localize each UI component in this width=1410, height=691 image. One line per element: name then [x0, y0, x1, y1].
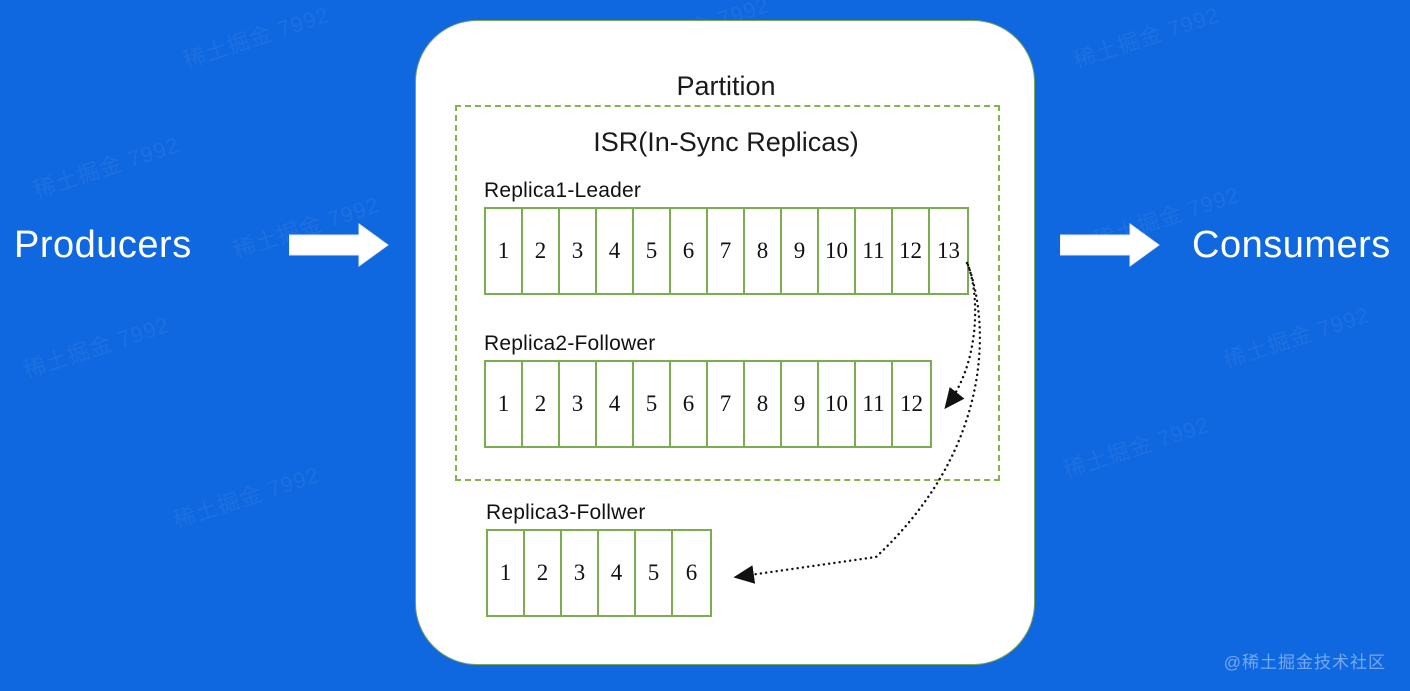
log-cell: 1 [486, 362, 523, 446]
replica-row-follower-3: Replica3-Follwer 1 2 3 4 5 6 [486, 501, 712, 617]
producers-label: Producers [14, 224, 192, 267]
log-cell: 12 [893, 362, 930, 446]
replica-row-follower-2: Replica2-Follower 1 2 3 4 5 6 7 8 9 10 1… [484, 332, 932, 448]
log-cell: 12 [893, 209, 930, 293]
replica2-cells: 1 2 3 4 5 6 7 8 9 10 11 12 [484, 360, 932, 448]
consumers-label: Consumers [1192, 224, 1391, 267]
log-cell: 2 [523, 362, 560, 446]
log-cell: 6 [673, 531, 710, 615]
replica3-cells: 1 2 3 4 5 6 [486, 529, 712, 617]
replica2-label: Replica2-Follower [484, 332, 932, 356]
consumers-flow-arrow-icon [1060, 222, 1160, 268]
log-cell: 6 [671, 209, 708, 293]
log-cell: 4 [599, 531, 636, 615]
log-cell: 5 [634, 209, 671, 293]
isr-title: ISR(In-Sync Replicas) [416, 127, 1036, 158]
replica-row-leader: Replica1-Leader 1 2 3 4 5 6 7 8 9 10 11 … [484, 179, 969, 295]
producers-flow-arrow-icon [289, 222, 389, 268]
log-cell: 2 [525, 531, 562, 615]
log-cell: 7 [708, 362, 745, 446]
log-cell: 9 [782, 362, 819, 446]
partition-title: Partition [416, 71, 1036, 102]
log-cell: 10 [819, 362, 856, 446]
credit-watermark: @稀土掘金技术社区 [1224, 648, 1386, 673]
background-watermark: 稀土掘金 7992 [19, 307, 174, 384]
replica3-label: Replica3-Follwer [486, 501, 712, 525]
log-cell: 2 [523, 209, 560, 293]
replica1-label: Replica1-Leader [484, 179, 969, 203]
log-cell: 4 [597, 209, 634, 293]
background-watermark: 稀土掘金 7992 [169, 457, 324, 534]
partition-card: Partition ISR(In-Sync Replicas) Replica1… [415, 20, 1035, 665]
diagram-canvas: 稀土掘金 7992 稀土掘金 7992 稀土掘金 7992 稀土掘金 7992 … [0, 0, 1410, 691]
background-watermark: 稀土掘金 7992 [1219, 297, 1374, 374]
log-cell: 1 [488, 531, 525, 615]
log-cell: 3 [562, 531, 599, 615]
background-watermark: 稀土掘金 7992 [1059, 407, 1214, 484]
log-cell: 8 [745, 209, 782, 293]
log-cell: 9 [782, 209, 819, 293]
log-cell: 5 [634, 362, 671, 446]
background-watermark: 稀土掘金 7992 [179, 0, 334, 75]
background-watermark: 稀土掘金 7992 [29, 127, 184, 204]
log-cell: 5 [636, 531, 673, 615]
log-cell: 1 [486, 209, 523, 293]
log-cell: 10 [819, 209, 856, 293]
log-cell: 7 [708, 209, 745, 293]
log-cell: 13 [930, 209, 967, 293]
background-watermark: 稀土掘金 7992 [1069, 0, 1224, 75]
log-cell: 11 [856, 209, 893, 293]
log-cell: 3 [560, 362, 597, 446]
log-cell: 4 [597, 362, 634, 446]
log-cell: 8 [745, 362, 782, 446]
log-cell: 3 [560, 209, 597, 293]
log-cell: 6 [671, 362, 708, 446]
log-cell: 11 [856, 362, 893, 446]
replica1-cells: 1 2 3 4 5 6 7 8 9 10 11 12 13 [484, 207, 969, 295]
